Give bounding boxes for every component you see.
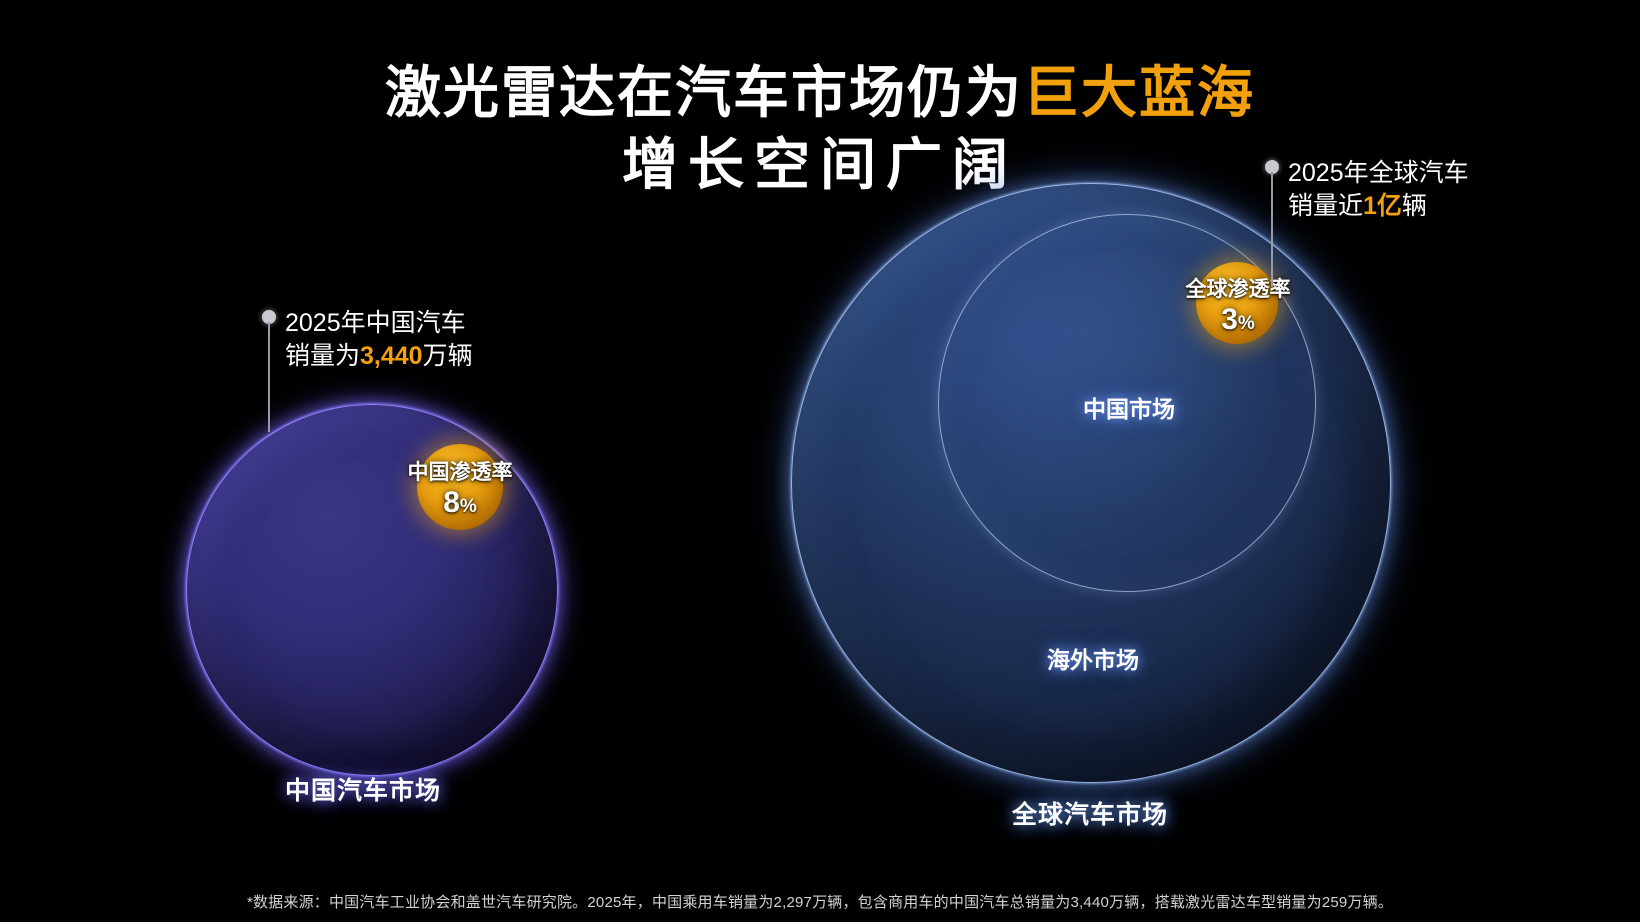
china-sales-prefix: 销量为 (285, 342, 360, 370)
global-sales-text: 2025年全球汽车 销量近1亿辆 (1288, 157, 1469, 223)
global-sales-suffix: 辆 (1402, 192, 1427, 220)
china-market-title: 中国汽车市场 (285, 771, 441, 807)
china-market-sphere (186, 404, 558, 776)
leader-line (268, 322, 270, 432)
title-line-1: 激光雷达在汽车市场仍为巨大蓝海 (0, 62, 1640, 124)
global-sales-value: 1亿 (1363, 192, 1402, 220)
china-penetration-bubble (417, 444, 503, 530)
china-inner-label: 中国市场 (1083, 390, 1175, 424)
global-sales-line-1: 2025年全球汽车 (1288, 157, 1469, 190)
global-sales-line-2: 销量近1亿辆 (1288, 190, 1469, 223)
global-market-title: 全球汽车市场 (1012, 795, 1168, 831)
china-sales-suffix: 万辆 (423, 342, 473, 370)
china-sales-line-2: 销量为3,440万辆 (285, 340, 473, 373)
china-sales-line-1: 2025年中国汽车 (285, 307, 473, 340)
title-prefix: 激光雷达在汽车市场仍为 (385, 61, 1023, 124)
footnote-source: *数据来源：中国汽车工业协会和盖世汽车研究院。2025年，中国乘用车销量为2,2… (0, 893, 1640, 913)
global-sales-prefix: 销量近 (1288, 192, 1363, 220)
china-sales-value: 3,440 (360, 342, 423, 370)
china-sales-text: 2025年中国汽车 销量为3,440万辆 (285, 307, 473, 373)
title-highlight: 巨大蓝海 (1023, 61, 1255, 124)
leader-line (1271, 172, 1273, 287)
infographic-canvas: 激光雷达在汽车市场仍为巨大蓝海 增长空间广阔 中国市场 海外市场 中国渗透率 8… (0, 0, 1640, 922)
overseas-market-label: 海外市场 (1047, 641, 1139, 675)
global-penetration-bubble (1196, 262, 1278, 344)
